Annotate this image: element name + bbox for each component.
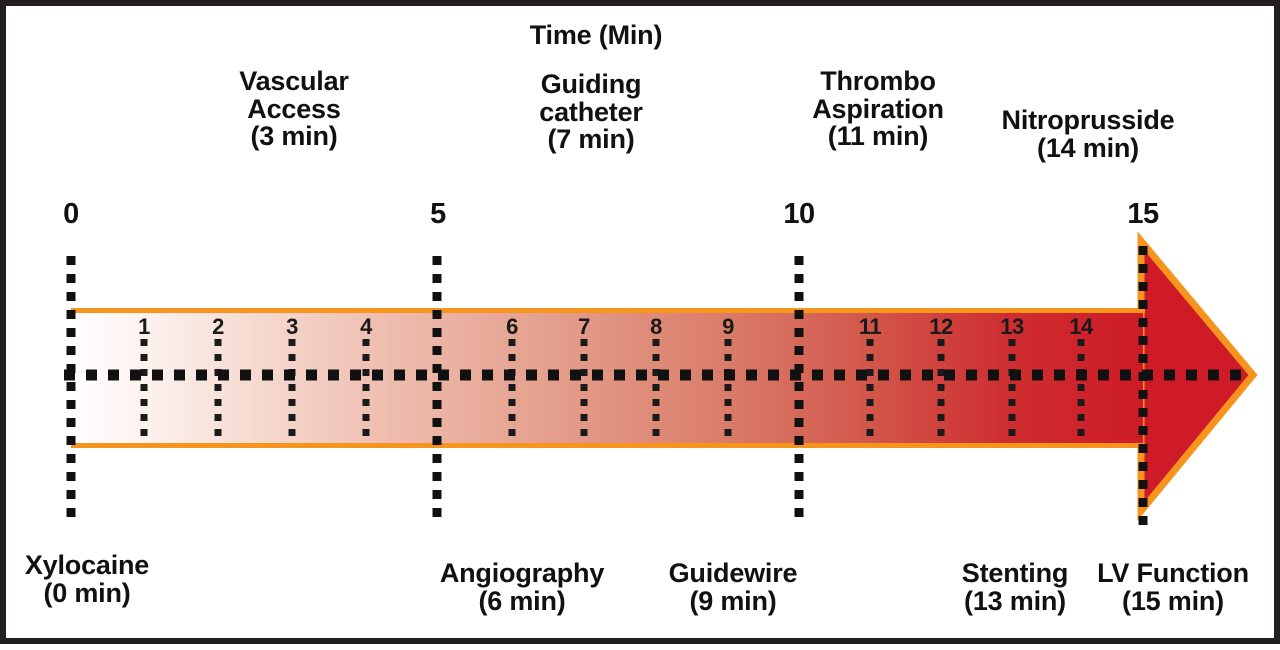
axis-title: Time (Min) xyxy=(466,22,726,50)
event-label-angiography: Angiography (6 min) xyxy=(397,560,647,615)
event-label-guiding-catheter: Guiding catheter (7 min) xyxy=(466,71,716,154)
event-label-xylocaine: Xylocaine (0 min) xyxy=(0,552,202,607)
timeline-stage: 0 5 10 15 1 2 3 4 6 7 8 9 11 12 13 14 Ti… xyxy=(6,6,1274,638)
minor-tick-label-8: 8 xyxy=(631,314,681,340)
minor-tick-label-1: 1 xyxy=(119,314,169,340)
event-label-guidewire: Guidewire (9 min) xyxy=(618,560,848,615)
minor-tick-label-2: 2 xyxy=(193,314,243,340)
event-label-vascular-access: Vascular Access (3 min) xyxy=(169,68,419,151)
event-label-lv-function: LV Function (15 min) xyxy=(1058,560,1280,615)
timeline-figure: 0 5 10 15 1 2 3 4 6 7 8 9 11 12 13 14 Ti… xyxy=(0,0,1280,644)
minor-tick-label-11: 11 xyxy=(845,314,895,340)
minor-tick-label-14: 14 xyxy=(1056,314,1106,340)
major-tick-label-5: 5 xyxy=(398,198,478,231)
major-tick-label-0: 0 xyxy=(31,198,111,231)
minor-tick-label-6: 6 xyxy=(487,314,537,340)
minor-tick-label-4: 4 xyxy=(341,314,391,340)
minor-tick-label-9: 9 xyxy=(703,314,753,340)
major-tick-label-10: 10 xyxy=(759,198,839,231)
minor-tick-label-3: 3 xyxy=(267,314,317,340)
minor-tick-label-13: 13 xyxy=(987,314,1037,340)
event-label-nitroprusside: Nitroprusside (14 min) xyxy=(963,107,1213,162)
minor-tick-label-7: 7 xyxy=(559,314,609,340)
major-tick-label-15: 15 xyxy=(1103,198,1183,231)
minor-tick-label-12: 12 xyxy=(916,314,966,340)
